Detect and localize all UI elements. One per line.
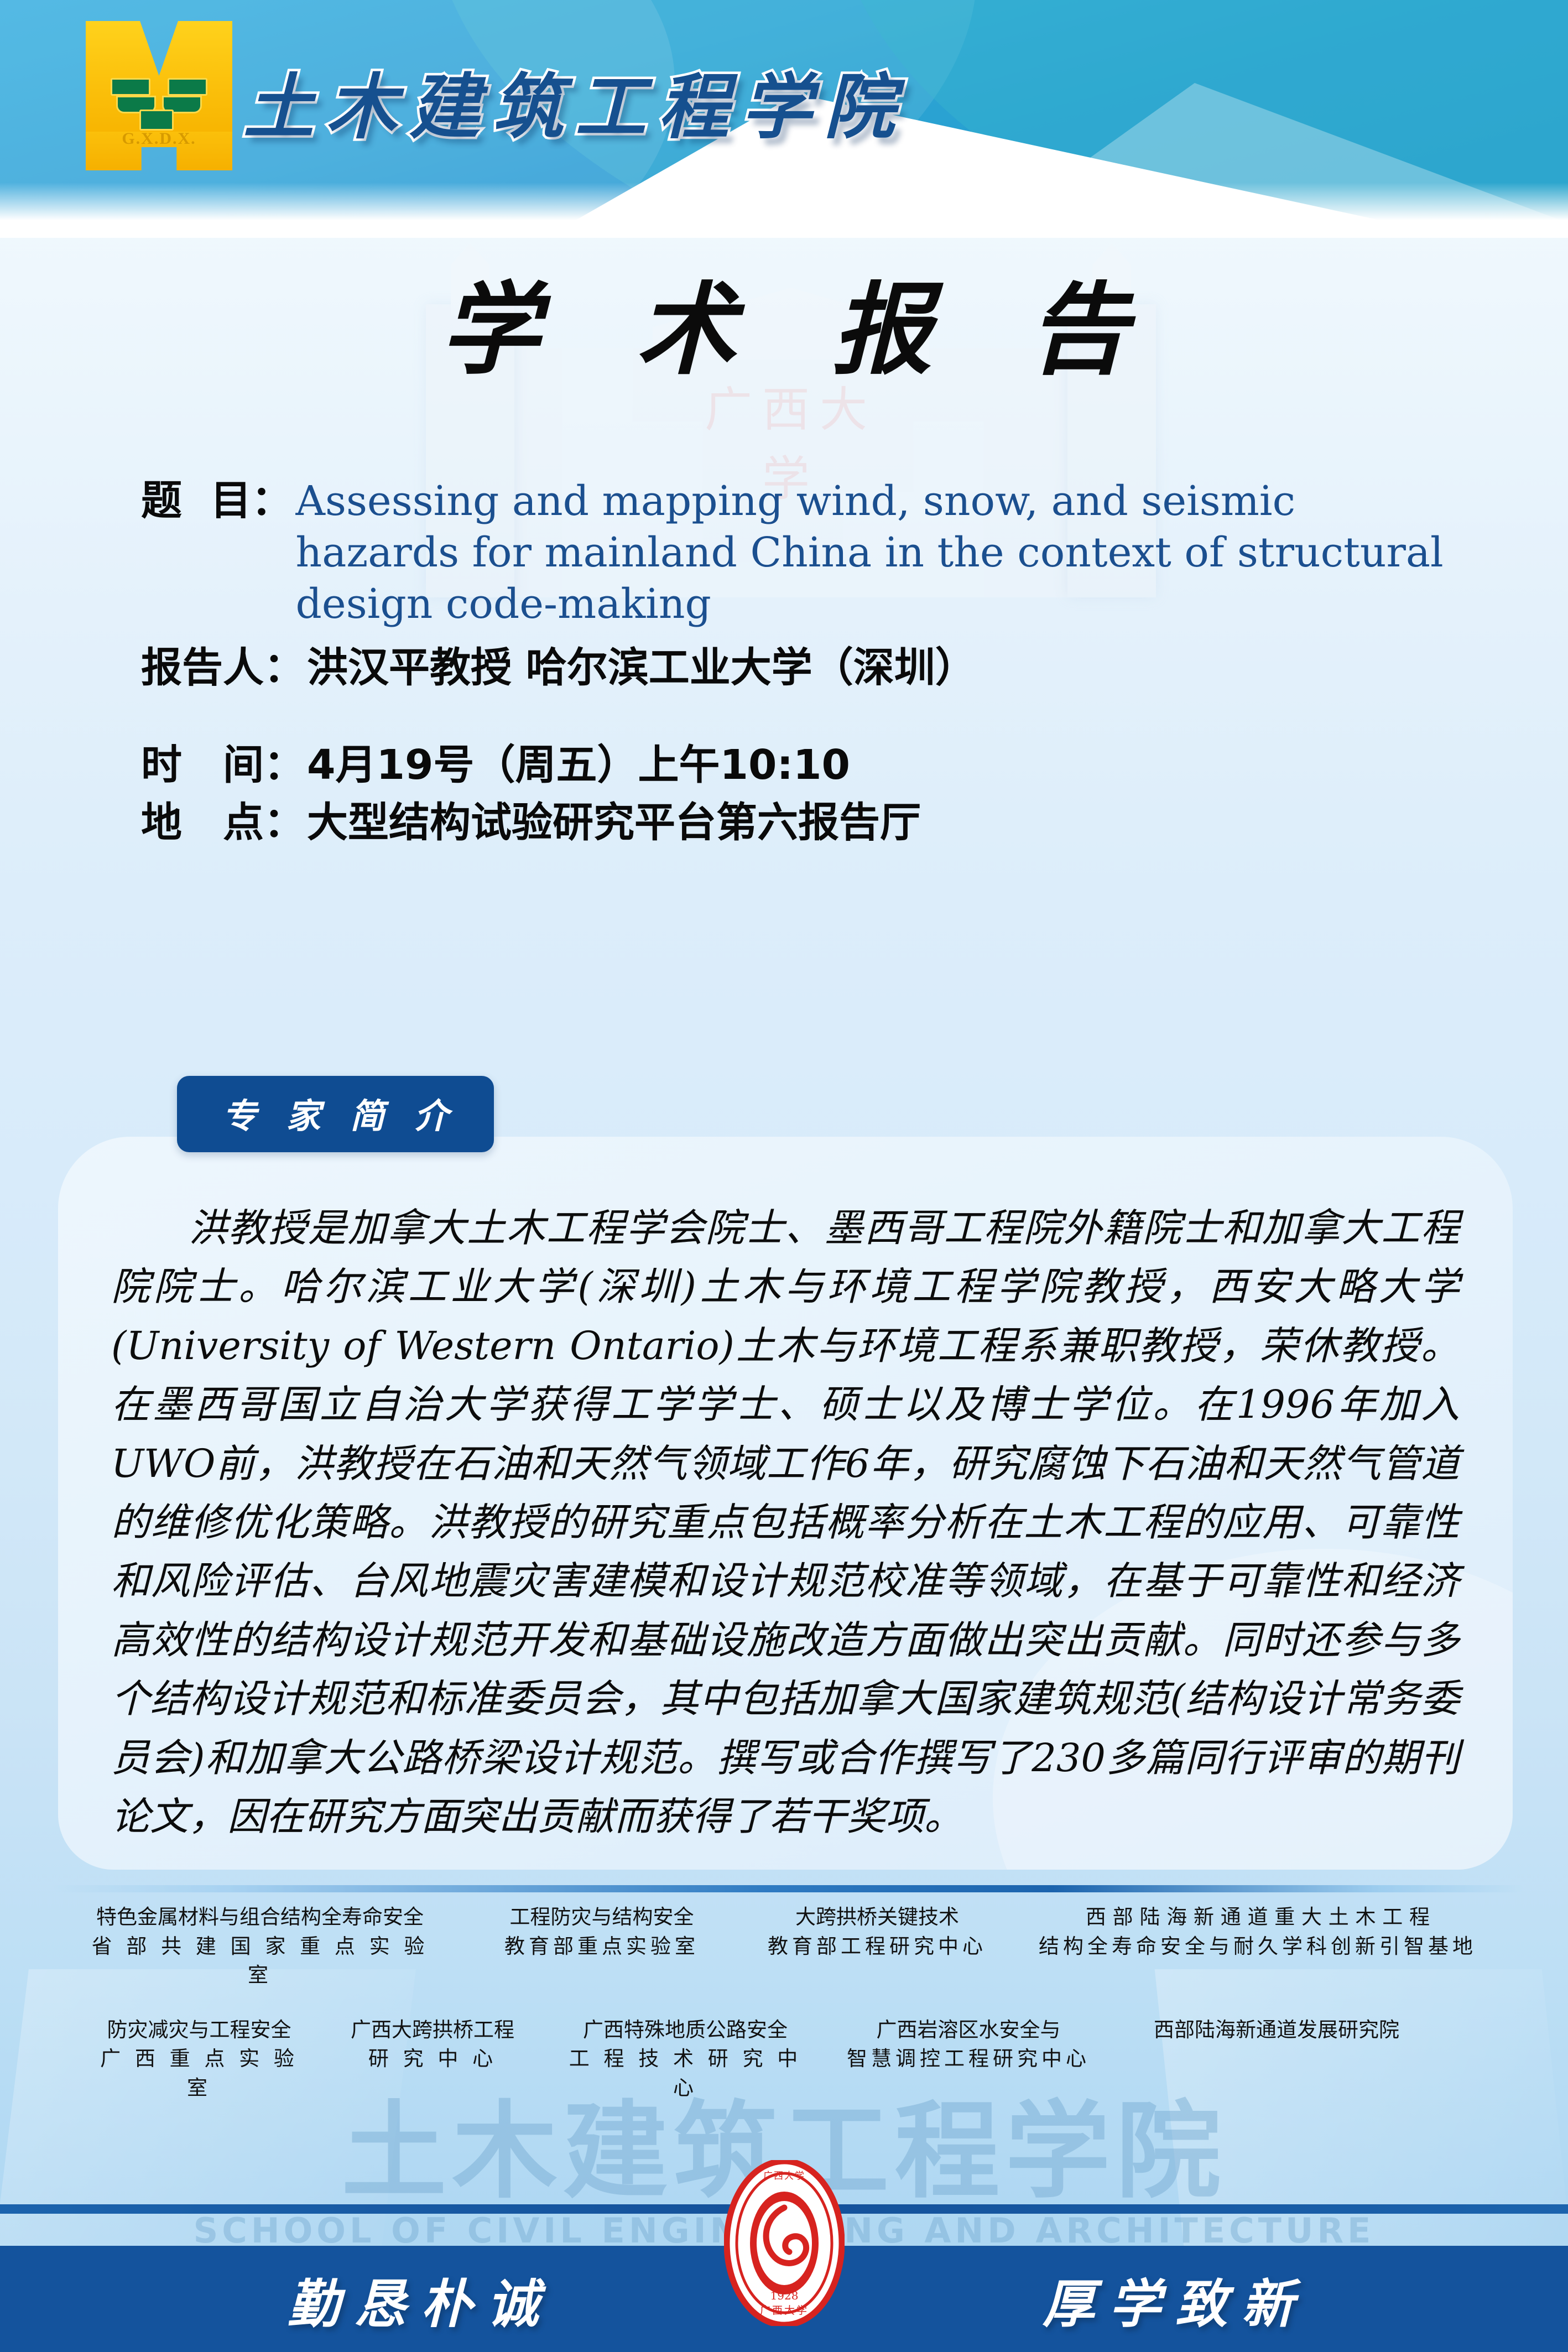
lab-entry-line2: 教育部工程研究中心 — [767, 1932, 988, 1961]
speaker-label: 报告人： — [141, 643, 305, 693]
university-seal-icon: 1928 广西大学 广西大学 — [724, 2160, 845, 2326]
expert-profile-badge-label: 专 家 简 介 — [213, 1088, 457, 1138]
lab-entry-line2: 工 程 技 术 研 究 中 心 — [555, 2044, 815, 2103]
lab-entry: 防灾减灾与工程安全广 西 重 点 实 验 室 — [88, 2016, 310, 2103]
svg-text:1928: 1928 — [770, 2289, 799, 2302]
lab-entry-line2: 结构全寿命安全与耐久学科创新引智基地 — [1036, 1932, 1479, 1961]
expert-bio-card: 洪教授是加拿大土木工程学会院士、墨西哥工程院外籍院士和加拿大工程院院士。哈尔滨工… — [58, 1137, 1513, 1870]
time-value: 4月19号（周五）上午10:10 — [305, 740, 850, 790]
motto-right: 厚学致新 — [1043, 2262, 1308, 2338]
place-label: 地 点： — [141, 798, 305, 847]
logo-brick-2 — [168, 78, 207, 96]
svg-text:广西大学: 广西大学 — [760, 2304, 809, 2317]
info-row-time: 时 间： 4月19号（周五）上午10:10 — [141, 740, 1457, 790]
lab-entry: 工程防灾与结构安全教育部重点实验室 — [486, 1903, 718, 1961]
page-title: 学 术 报 告 — [0, 249, 1568, 393]
motto-left: 勤恳朴诚 — [288, 2262, 553, 2338]
lab-entry-line1: 西部陆海新通道发展研究院 — [1122, 2016, 1431, 2045]
expert-bio-text: 洪教授是加拿大土木工程学会院士、墨西哥工程院外籍院士和加拿大工程院院士。哈尔滨工… — [58, 1137, 1513, 1846]
topic-value: Assessing and mapping wind, snow, and se… — [293, 476, 1457, 631]
lab-entry-line2: 教育部重点实验室 — [486, 1932, 718, 1961]
lab-entry: 广西大跨拱桥工程研 究 中 心 — [338, 2016, 527, 2074]
lab-entry: 西部陆海新通道发展研究院 — [1122, 2016, 1431, 2045]
lab-entry-line1: 工程防灾与结构安全 — [486, 1903, 718, 1932]
affiliated-labs: 特色金属材料与组合结构全寿命安全省 部 共 建 国 家 重 点 实 验 室工程防… — [0, 1903, 1568, 2103]
logo-brick-5 — [139, 110, 174, 131]
lab-entry: 广西岩溶区水安全与智慧调控工程研究中心 — [844, 2016, 1093, 2074]
poster-root: G.X.D.X. 土木建筑工程学院 广西大学 学 术 报 告 题 目： Asse… — [0, 0, 1568, 2352]
speaker-value: 洪汉平教授 哈尔滨工业大学（深圳） — [305, 643, 976, 693]
school-name-title: 土木建筑工程学院 — [243, 50, 907, 152]
lab-entry-line2: 广 西 重 点 实 验 室 — [88, 2044, 310, 2103]
footer-divider — [53, 1885, 1524, 1892]
lab-entry: 特色金属材料与组合结构全寿命安全省 部 共 建 国 家 重 点 实 验 室 — [83, 1903, 437, 1990]
lab-entry: 广西特殊地质公路安全工 程 技 术 研 究 中 心 — [555, 2016, 815, 2103]
logo-abbreviation: G.X.D.X. — [86, 129, 232, 148]
lab-entry-line2: 智慧调控工程研究中心 — [844, 2044, 1093, 2074]
lab-entry-line1: 西 部 陆 海 新 通 道 重 大 土 木 工 程 — [1036, 1903, 1479, 1932]
lab-entry-line2: 研 究 中 心 — [338, 2044, 527, 2074]
expert-profile-badge: 专 家 简 介 — [177, 1076, 494, 1152]
lab-entry: 大跨拱桥关键技术教育部工程研究中心 — [767, 1903, 988, 1961]
lab-entry: 西 部 陆 海 新 通 道 重 大 土 木 工 程结构全寿命安全与耐久学科创新引… — [1036, 1903, 1479, 1961]
logo-brick-1 — [111, 78, 150, 96]
header-fade-band — [0, 183, 1568, 238]
svg-text:广西大学: 广西大学 — [763, 2171, 805, 2182]
university-logo: G.X.D.X. — [86, 21, 232, 170]
lab-entry-line1: 广西岩溶区水安全与 — [844, 2016, 1093, 2045]
lab-entry-line1: 特色金属材料与组合结构全寿命安全 — [83, 1903, 437, 1932]
labs-row-2: 防灾减灾与工程安全广 西 重 点 实 验 室广西大跨拱桥工程研 究 中 心广西特… — [0, 2016, 1568, 2103]
info-row-place: 地 点： 大型结构试验研究平台第六报告厅 — [141, 798, 1457, 847]
place-value: 大型结构试验研究平台第六报告厅 — [305, 798, 921, 847]
lab-entry-line1: 大跨拱桥关键技术 — [767, 1903, 988, 1932]
topic-label: 题 目： — [141, 476, 293, 525]
info-row-topic: 题 目： Assessing and mapping wind, snow, a… — [141, 476, 1457, 631]
lab-entry-line1: 广西大跨拱桥工程 — [338, 2016, 527, 2045]
lab-entry-line1: 防灾减灾与工程安全 — [88, 2016, 310, 2045]
lab-entry-line2: 省 部 共 建 国 家 重 点 实 验 室 — [83, 1932, 437, 1990]
labs-row-1: 特色金属材料与组合结构全寿命安全省 部 共 建 国 家 重 点 实 验 室工程防… — [0, 1903, 1568, 1990]
lab-entry-line1: 广西特殊地质公路安全 — [555, 2016, 815, 2045]
event-info-block: 题 目： Assessing and mapping wind, snow, a… — [141, 476, 1457, 848]
time-label: 时 间： — [141, 740, 305, 790]
info-row-speaker: 报告人： 洪汉平教授 哈尔滨工业大学（深圳） — [141, 643, 1457, 693]
